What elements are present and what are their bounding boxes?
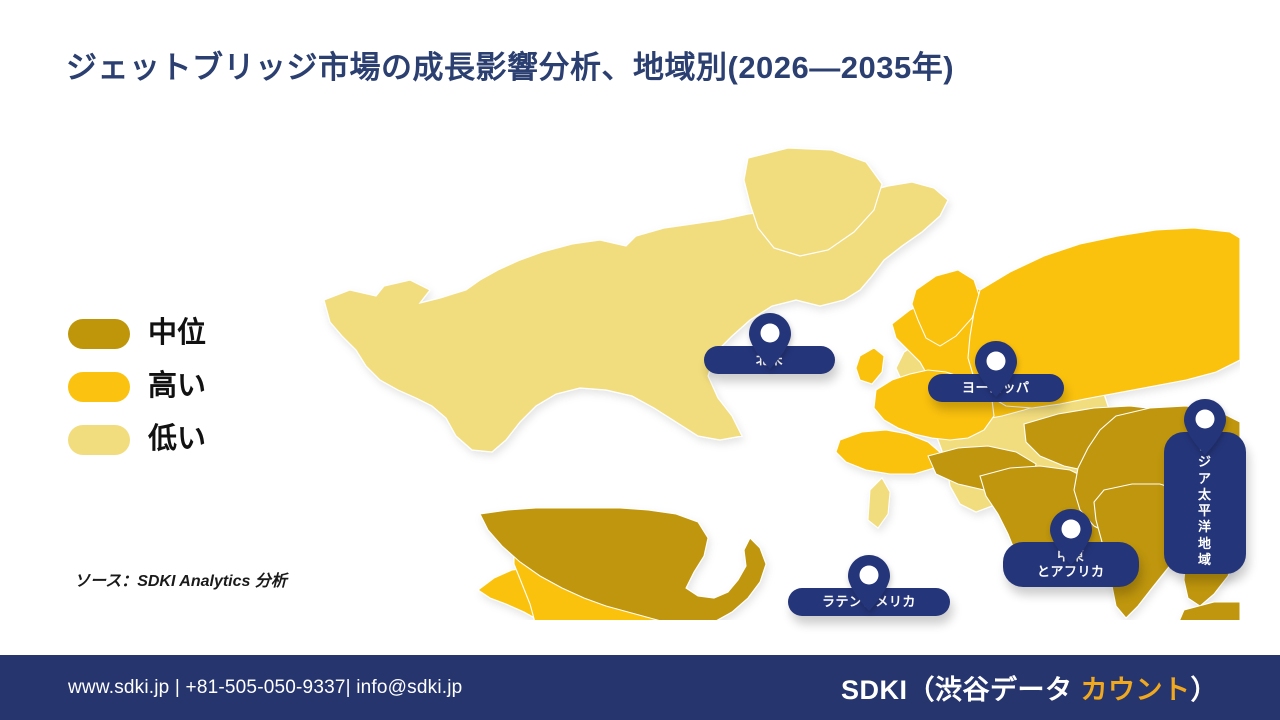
footer-logo-accent: カウント <box>1081 675 1191 705</box>
footer-bar: www.sdki.jp | +81-505-050-9337| info@sdk… <box>0 655 1280 720</box>
footer-logo-tail: ） <box>1191 675 1219 705</box>
legend-swatch-medium <box>68 319 130 349</box>
location-pin-icon <box>748 312 792 370</box>
page-title: ジェットブリッジ市場の成長影響分析、地域別(2026—2035年) <box>66 42 954 87</box>
region-indonesia <box>1178 602 1240 620</box>
footer-contact-info[interactable]: www.sdki.jp | +81-505-050-9337| info@sdk… <box>68 677 462 699</box>
world-map: 北米 ヨーロッパ アジア太平洋 地域 中東 とアフリカ ラテンアメリカ <box>280 140 1240 620</box>
location-pin-icon <box>974 340 1018 398</box>
legend-swatch-high <box>68 372 130 402</box>
region-madagascar <box>868 478 890 528</box>
location-pin-icon <box>1049 508 1093 566</box>
region-british-isles <box>856 348 884 384</box>
location-pin-icon <box>1183 398 1227 456</box>
source-note: ソース：SDKI Analytics 分析 <box>74 567 287 591</box>
legend-label-low: 低い <box>148 425 206 454</box>
legend: 中位 高い 低い <box>68 313 206 460</box>
footer-logo: SDKI（渋谷データ カウント） <box>841 668 1218 707</box>
map-pin-middle-east-africa[interactable]: 中東 とアフリカ <box>1003 508 1139 587</box>
map-pin-north-america[interactable]: 北米 <box>704 312 835 374</box>
location-pin-icon <box>847 554 891 612</box>
map-pin-latin-america[interactable]: ラテンアメリカ <box>788 554 950 616</box>
legend-label-medium: 中位 <box>148 319 206 348</box>
legend-swatch-low <box>68 425 130 455</box>
footer-logo-main: SDKI（渋谷データ <box>841 675 1081 705</box>
map-pin-asia-pacific[interactable]: アジア太平洋 地域 <box>1164 398 1246 574</box>
map-pin-europe[interactable]: ヨーロッパ <box>928 340 1064 402</box>
legend-item-low: 低い <box>68 419 206 460</box>
legend-item-medium: 中位 <box>68 313 206 354</box>
legend-label-high: 高い <box>148 372 206 401</box>
legend-item-high: 高い <box>68 366 206 407</box>
